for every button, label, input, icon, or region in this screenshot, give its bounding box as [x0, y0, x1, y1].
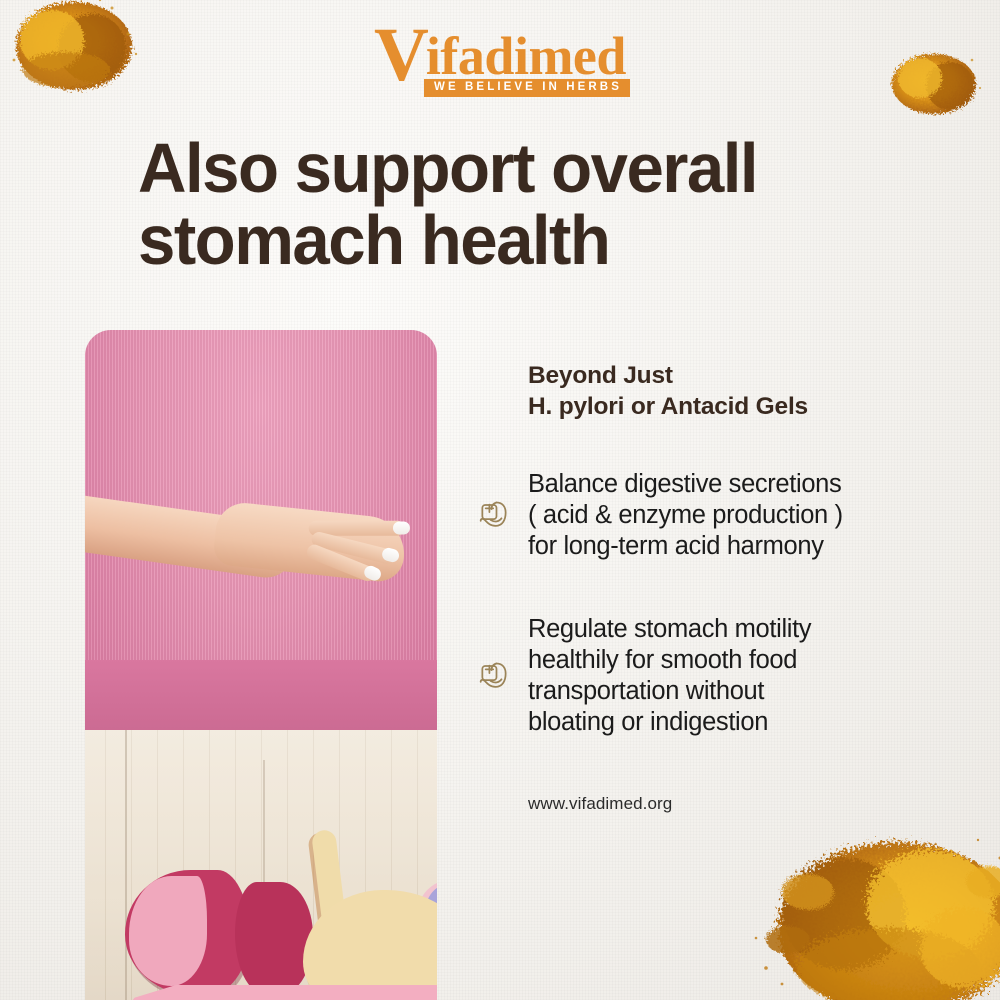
logo-wordmark: Vifadimed WE BELIEVE IN HERBS: [370, 28, 630, 97]
stomach-plus-icon-svg: [474, 495, 514, 535]
content-column: Beyond Just H. pylori or Antacid Gels Ba…: [474, 360, 974, 814]
benefit-1-line-2: ( acid & enzyme production ): [528, 500, 843, 531]
brand-logo[interactable]: Vifadimed WE BELIEVE IN HERBS: [0, 28, 1000, 97]
stomach-plus-icon: [474, 656, 514, 696]
subheading-line-2: H. pylori or Antacid Gels: [528, 391, 974, 422]
website-url[interactable]: www.vifadimed.org: [528, 794, 974, 814]
logo-initial: V: [374, 13, 426, 97]
promotional-poster: Vifadimed WE BELIEVE IN HERBS Also suppo…: [0, 0, 1000, 1000]
papercraft-liver-lobe-light: [129, 876, 207, 986]
digestive-system-photo: [85, 330, 437, 1000]
papercraft-large-intestine: [127, 985, 437, 1000]
page-title: Also support overall stomach health: [138, 132, 896, 276]
photo-nail-1: [393, 521, 410, 534]
benefit-2-line-4: bloating or indigestion: [528, 707, 811, 738]
stomach-plus-icon: [474, 495, 514, 535]
subheading-line-1: Beyond Just: [528, 360, 974, 391]
benefit-1-line-3: for long-term acid harmony: [528, 531, 843, 562]
logo-tagline: WE BELIEVE IN HERBS: [424, 79, 630, 97]
subheading: Beyond Just H. pylori or Antacid Gels: [528, 360, 974, 423]
turmeric-powder-bottom-right: [748, 818, 1000, 1000]
headline-line-1: Also support overall: [138, 132, 896, 204]
benefit-item-1: Balance digestive secretions ( acid & en…: [474, 469, 974, 562]
benefit-2-line-2: healthily for smooth food: [528, 645, 811, 676]
papercraft-liver-right-lobe: [235, 882, 313, 994]
benefit-1-line-1: Balance digestive secretions: [528, 469, 843, 500]
benefit-2-line-1: Regulate stomach motility: [528, 614, 811, 645]
benefit-text-2: Regulate stomach motility healthily for …: [528, 614, 811, 738]
photo-trouser-seam: [125, 730, 127, 1000]
stomach-plus-icon-svg: [474, 656, 514, 696]
headline-line-2: stomach health: [138, 204, 896, 276]
benefit-2-line-3: transportation without: [528, 676, 811, 707]
logo-rest: ifadimed: [426, 26, 626, 86]
benefit-item-2: Regulate stomach motility healthily for …: [474, 614, 974, 738]
benefit-text-1: Balance digestive secretions ( acid & en…: [528, 469, 843, 562]
turmeric-powder-bottom-right-svg: [748, 818, 1000, 1000]
